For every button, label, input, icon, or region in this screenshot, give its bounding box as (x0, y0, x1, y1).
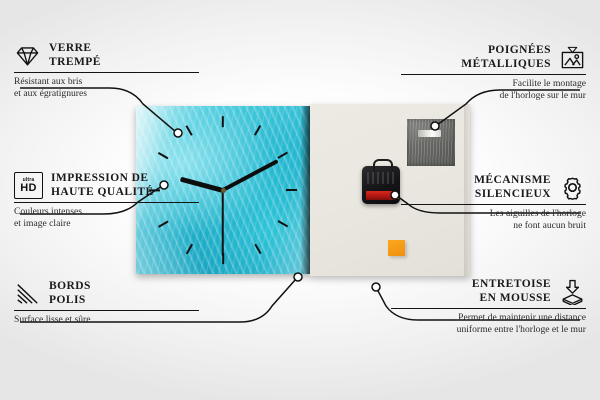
callout-subtitle-line1: Couleurs intenses (14, 206, 199, 218)
callout-header: MÉCANISME SILENCIEUX (401, 174, 586, 201)
callout-rule (14, 310, 199, 311)
clock-minute-hand (222, 159, 279, 192)
callout-subtitle-line1: Les aiguilles de l'horloge (401, 208, 586, 220)
callout-mecanisme-silencieux[interactable]: MÉCANISME SILENCIEUX Les aiguilles de l'… (401, 174, 586, 232)
callout-header: ultra HD IMPRESSION DE HAUTE QUALITÉ (14, 172, 199, 199)
callout-header: VERRE TREMPÉ (14, 42, 199, 69)
callout-rule (14, 72, 199, 73)
callout-subtitle: Facilite le montage de l'horloge sur le … (401, 78, 586, 101)
callout-header: POIGNÉES MÉTALLIQUES (401, 44, 586, 71)
callout-title-line1: BORDS (49, 280, 91, 293)
callout-subtitle-line2: et image claire (14, 218, 199, 230)
callout-title-line1: IMPRESSION DE (51, 172, 154, 185)
callout-subtitle-line2: de l'horloge sur le mur (401, 90, 586, 102)
mechanism-hanging-loop (373, 159, 393, 171)
clock-center-hub (221, 188, 226, 193)
callout-rule (14, 202, 199, 203)
callout-subtitle-line1: Résistant aux bris (14, 76, 199, 88)
callout-header: ENTRETOISE EN MOUSSE (391, 278, 586, 305)
callout-subtitle: Couleurs intenses et image claire (14, 206, 199, 229)
hanger-slot (418, 130, 441, 137)
callout-title: MÉCANISME SILENCIEUX (474, 174, 551, 201)
clock-tick (253, 244, 261, 255)
callout-subtitle: Les aiguilles de l'horloge ne font aucun… (401, 208, 586, 231)
callout-subtitle-line2: uniforme entre l'horloge et le mur (391, 324, 586, 336)
silent-clock-mechanism (362, 166, 400, 204)
polished-edge-icon (14, 280, 41, 307)
gear-icon (559, 174, 586, 201)
callout-subtitle: Résistant aux bris et aux égratignures (14, 76, 199, 99)
callout-rule (401, 204, 586, 205)
battery (366, 191, 396, 200)
ultra-hd-icon: ultra HD (14, 172, 43, 199)
callout-title: BORDS POLIS (49, 280, 91, 307)
callout-title-line2: POLIS (49, 294, 91, 307)
callout-title-line1: ENTRETOISE (472, 278, 551, 291)
callout-title-line2: SILENCIEUX (474, 188, 551, 201)
ultra-hd-large-text: HD (20, 183, 37, 194)
callout-header: BORDS POLIS (14, 280, 199, 307)
clock-second-hand (222, 190, 224, 256)
metal-hanger-plate (407, 119, 455, 166)
callout-title-line2: EN MOUSSE (472, 292, 551, 305)
clock-tick (286, 189, 297, 191)
callout-title-line2: TREMPÉ (49, 56, 101, 69)
callout-title-line1: POIGNÉES (461, 44, 551, 57)
callout-subtitle-line1: Surface lisse et sûre (14, 314, 199, 326)
clock-tick (158, 152, 169, 160)
clock-tick (277, 152, 288, 160)
picture-hanger-icon (559, 44, 586, 71)
callout-title-line1: MÉCANISME (474, 174, 551, 187)
clock-tick (185, 125, 193, 136)
callout-title-line2: MÉTALLIQUES (461, 58, 551, 71)
diamond-icon (14, 42, 41, 69)
callout-title: POIGNÉES MÉTALLIQUES (461, 44, 551, 71)
foam-spacer (388, 240, 405, 256)
callout-rule (391, 308, 586, 309)
clock-tick (185, 244, 193, 255)
callout-subtitle: Surface lisse et sûre (14, 314, 199, 326)
mechanism-grill (367, 172, 395, 184)
clock-tick (277, 220, 288, 228)
callout-verre-trempe[interactable]: VERRE TREMPÉ Résistant aux bris et aux é… (14, 42, 199, 100)
callout-entretoise-en-mousse[interactable]: ENTRETOISE EN MOUSSE Permet de maintenir… (391, 278, 586, 336)
infographic-canvas: VERRE TREMPÉ Résistant aux bris et aux é… (0, 0, 600, 400)
callout-title-line1: VERRE (49, 42, 101, 55)
callout-subtitle-line2: et aux égratignures (14, 88, 199, 100)
foam-spacer-icon (559, 278, 586, 305)
callout-rule (401, 74, 586, 75)
callout-bords-polis[interactable]: BORDS POLIS Surface lisse et sûre (14, 280, 199, 326)
clock-tick (222, 116, 224, 127)
callout-impression-haute-qualite[interactable]: ultra HD IMPRESSION DE HAUTE QUALITÉ Cou… (14, 172, 199, 230)
callout-subtitle-line1: Permet de maintenir une distance (391, 312, 586, 324)
callout-subtitle: Permet de maintenir une distance uniform… (391, 312, 586, 335)
callout-title-line2: HAUTE QUALITÉ (51, 186, 154, 199)
callout-subtitle-line1: Facilite le montage (401, 78, 586, 90)
clock-tick (253, 125, 261, 136)
callout-title: VERRE TREMPÉ (49, 42, 101, 69)
callout-subtitle-line2: ne font aucun bruit (401, 220, 586, 232)
callout-title: IMPRESSION DE HAUTE QUALITÉ (51, 172, 154, 199)
callout-title: ENTRETOISE EN MOUSSE (472, 278, 551, 305)
callout-poignees-metalliques[interactable]: POIGNÉES MÉTALLIQUES Facilite le montage… (401, 44, 586, 102)
